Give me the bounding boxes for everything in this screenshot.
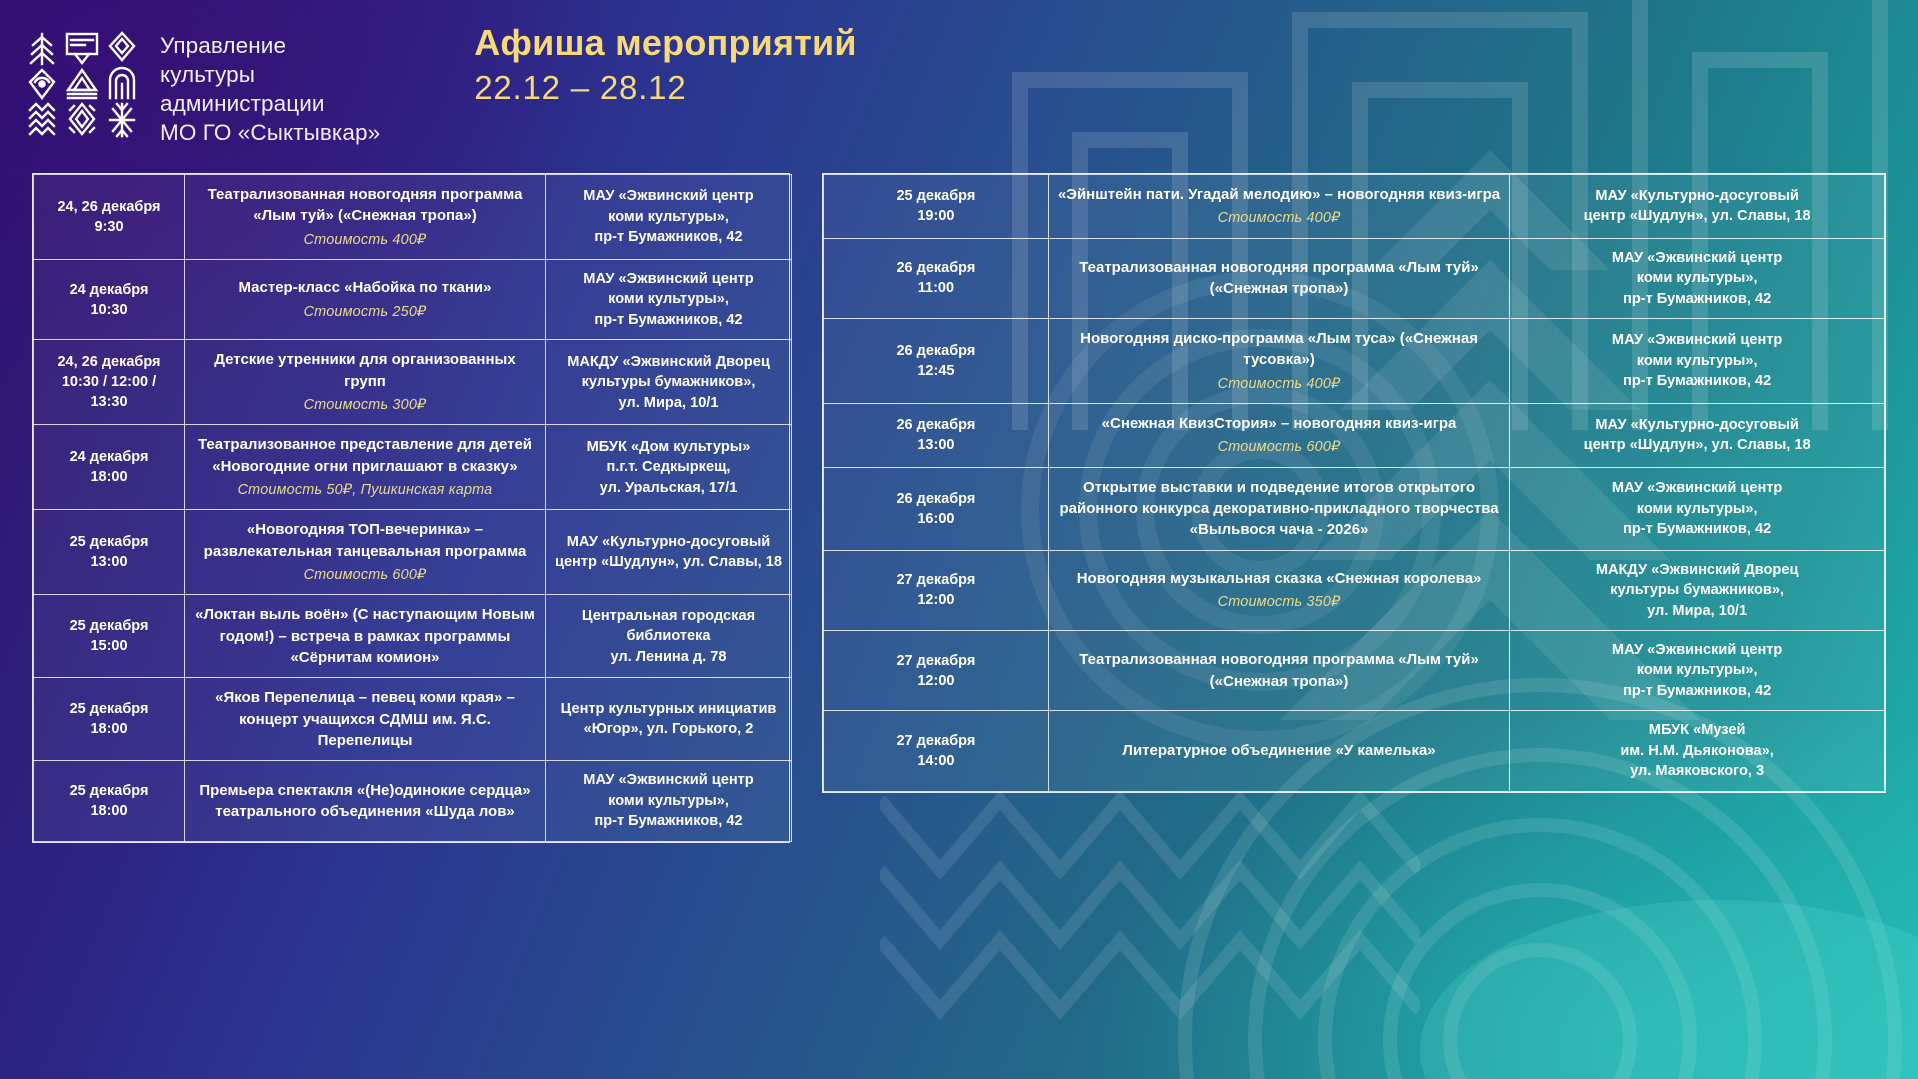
event-datetime-cell: 24, 26 декабря 9:30	[34, 175, 185, 260]
event-title-cell: Театрализованная новогодняя программа «Л…	[1048, 238, 1509, 318]
event-title: Театрализованное представление для детей…	[198, 436, 532, 474]
event-datetime-cell: 25 декабря 19:00	[824, 175, 1049, 239]
event-title-cell: «Новогодняя ТОП-вечеринка» – развлекател…	[185, 510, 546, 595]
organization-branding: Управление культуры администрации МО ГО …	[24, 24, 380, 148]
title-block: Афиша мероприятий 22.12 – 28.12	[474, 24, 856, 105]
table-row: 26 декабря 12:45Новогодняя диско-програм…	[824, 319, 1885, 404]
table-row: 25 декабря 19:00«Эйнштейн пати. Угадай м…	[824, 175, 1885, 239]
event-datetime-cell: 26 декабря 11:00	[824, 238, 1049, 318]
event-title: Новогодняя диско-программа «Лым туса» («…	[1080, 330, 1478, 368]
event-datetime-cell: 27 декабря 12:00	[824, 630, 1049, 710]
event-venue-cell: МАУ «Эжвинский центр коми культуры», пр-…	[546, 260, 792, 340]
event-title: «Новогодняя ТОП-вечеринка» – развлекател…	[204, 521, 527, 559]
event-title: Литературное объединение «У камелька»	[1122, 742, 1435, 759]
event-datetime-cell: 24 декабря 10:30	[34, 260, 185, 340]
event-title: Мастер-класс «Набойка по ткани»	[238, 279, 491, 296]
event-title-cell: Театрализованная новогодняя программа «Л…	[185, 175, 546, 260]
table-row: 26 декабря 13:00«Снежная КвизСтория» – н…	[824, 404, 1885, 468]
table-row: 25 декабря 13:00«Новогодняя ТОП-вечеринк…	[34, 510, 792, 595]
event-price: Стоимость 50₽, Пушкинская карта	[193, 480, 537, 500]
event-datetime-cell: 27 декабря 12:00	[824, 550, 1049, 630]
event-title: Новогодняя музыкальная сказка «Снежная к…	[1077, 570, 1482, 587]
event-datetime-cell: 26 декабря 16:00	[824, 467, 1049, 550]
event-venue-cell: Центр культурных инициатив «Югор», ул. Г…	[546, 678, 792, 761]
table-row: 26 декабря 16:00Открытие выставки и подв…	[824, 467, 1885, 550]
event-title: Театрализованная новогодняя программа «Л…	[208, 186, 523, 224]
event-title: «Локтан выль воён» (С наступающим Новым …	[195, 606, 535, 666]
table-row: 27 декабря 14:00Литературное объединение…	[824, 711, 1885, 791]
event-venue-cell: Центральная городская библиотека ул. Лен…	[546, 595, 792, 678]
event-datetime-cell: 27 декабря 14:00	[824, 711, 1049, 791]
event-title: Детские утренники для организованных гру…	[214, 351, 515, 389]
event-datetime-cell: 24 декабря 18:00	[34, 425, 185, 510]
event-venue-cell: МАУ «Культурно-досуговый центр «Шудлун»,…	[1510, 404, 1885, 468]
table-row: 27 декабря 12:00Театрализованная новогод…	[824, 630, 1885, 710]
event-venue-cell: МАУ «Эжвинский центр коми культуры», пр-…	[1510, 630, 1885, 710]
event-datetime-cell: 26 декабря 13:00	[824, 404, 1049, 468]
event-price: Стоимость 300₽	[193, 395, 537, 415]
event-title-cell: «Яков Перепелица – певец коми края» – ко…	[185, 678, 546, 761]
event-venue-cell: МАУ «Эжвинский центр коми культуры», пр-…	[1510, 319, 1885, 404]
event-title-cell: «Локтан выль воён» (С наступающим Новым …	[185, 595, 546, 678]
table-row: 26 декабря 11:00Театрализованная новогод…	[824, 238, 1885, 318]
event-title-cell: Мастер-класс «Набойка по ткани»Стоимость…	[185, 260, 546, 340]
event-title-cell: Театрализованная новогодняя программа «Л…	[1048, 630, 1509, 710]
page-title: Афиша мероприятий	[474, 24, 856, 62]
table-row: 25 декабря 18:00«Яков Перепелица – певец…	[34, 678, 792, 761]
event-title: «Эйнштейн пати. Угадай мелодию» – нового…	[1058, 186, 1500, 203]
event-datetime-cell: 25 декабря 18:00	[34, 761, 185, 841]
event-datetime-cell: 25 декабря 18:00	[34, 678, 185, 761]
event-venue-cell: МАУ «Эжвинский центр коми культуры», пр-…	[546, 761, 792, 841]
event-venue-cell: МБУК «Дом культуры» п.г.т. Седкыркещ, ул…	[546, 425, 792, 510]
event-title-cell: Детские утренники для организованных гру…	[185, 340, 546, 425]
table-row: 24, 26 декабря 9:30Театрализованная ново…	[34, 175, 792, 260]
table-row: 25 декабря 15:00«Локтан выль воён» (С на…	[34, 595, 792, 678]
event-price: Стоимость 400₽	[1057, 374, 1501, 394]
poster-header: Управление культуры администрации МО ГО …	[0, 0, 1918, 163]
event-title: Театрализованная новогодняя программа «Л…	[1079, 259, 1479, 297]
event-datetime-cell: 25 декабря 15:00	[34, 595, 185, 678]
event-price: Стоимость 600₽	[193, 565, 537, 585]
event-venue-cell: МАУ «Эжвинский центр коми культуры», пр-…	[1510, 238, 1885, 318]
table-row: 27 декабря 12:00Новогодняя музыкальная с…	[824, 550, 1885, 630]
date-range: 22.12 – 28.12	[474, 71, 856, 106]
event-price: Стоимость 400₽	[193, 230, 537, 250]
event-venue-cell: МАУ «Эжвинский центр коми культуры», пр-…	[1510, 467, 1885, 550]
event-title-cell: Новогодняя музыкальная сказка «Снежная к…	[1048, 550, 1509, 630]
table-row: 24, 26 декабря 10:30 / 12:00 / 13:30Детс…	[34, 340, 792, 425]
event-venue-cell: МАКДУ «Эжвинский Дворец культуры бумажни…	[1510, 550, 1885, 630]
event-price: Стоимость 250₽	[193, 302, 537, 322]
events-table: 25 декабря 19:00«Эйнштейн пати. Угадай м…	[823, 174, 1885, 792]
event-title-cell: «Снежная КвизСтория» – новогодняя квиз-и…	[1048, 404, 1509, 468]
event-title: «Яков Перепелица – певец коми края» – ко…	[215, 689, 515, 749]
event-venue-cell: МАУ «Эжвинский центр коми культуры», пр-…	[546, 175, 792, 260]
event-datetime-cell: 26 декабря 12:45	[824, 319, 1049, 404]
event-datetime-cell: 24, 26 декабря 10:30 / 12:00 / 13:30	[34, 340, 185, 425]
event-venue-cell: МАУ «Культурно-досуговый центр «Шудлун»,…	[1510, 175, 1885, 239]
event-venue-cell: МАКДУ «Эжвинский Дворец культуры бумажни…	[546, 340, 792, 425]
table-row: 24 декабря 18:00Театрализованное предста…	[34, 425, 792, 510]
schedule-table-left: 24, 26 декабря 9:30Театрализованная ново…	[32, 173, 790, 843]
event-title-cell: Театрализованное представление для детей…	[185, 425, 546, 510]
event-title-cell: Литературное объединение «У камелька»	[1048, 711, 1509, 791]
event-title-cell: Новогодняя диско-программа «Лым туса» («…	[1048, 319, 1509, 404]
table-row: 24 декабря 10:30Мастер-класс «Набойка по…	[34, 260, 792, 340]
komi-ornament-logo-icon	[24, 24, 140, 144]
event-title-cell: Премьера спектакля «(Не)одинокие сердца»…	[185, 761, 546, 841]
event-title: Премьера спектакля «(Не)одинокие сердца»…	[199, 782, 530, 820]
table-row: 25 декабря 18:00Премьера спектакля «(Не)…	[34, 761, 792, 841]
event-price: Стоимость 400₽	[1057, 208, 1501, 228]
event-title-cell: Открытие выставки и подведение итогов от…	[1048, 467, 1509, 550]
organization-name: Управление культуры администрации МО ГО …	[160, 32, 380, 148]
event-venue-cell: МБУК «Музей им. Н.М. Дьяконова», ул. Мая…	[1510, 711, 1885, 791]
event-title: Открытие выставки и подведение итогов от…	[1059, 479, 1498, 539]
schedule-table-right: 25 декабря 19:00«Эйнштейн пати. Угадай м…	[822, 173, 1886, 793]
event-price: Стоимость 350₽	[1057, 592, 1501, 612]
event-title: Театрализованная новогодняя программа «Л…	[1079, 651, 1479, 689]
event-price: Стоимость 600₽	[1057, 437, 1501, 457]
event-datetime-cell: 25 декабря 13:00	[34, 510, 185, 595]
event-title-cell: «Эйнштейн пати. Угадай мелодию» – нового…	[1048, 175, 1509, 239]
event-venue-cell: МАУ «Культурно-досуговый центр «Шудлун»,…	[546, 510, 792, 595]
events-table: 24, 26 декабря 9:30Театрализованная ново…	[33, 174, 792, 842]
event-title: «Снежная КвизСтория» – новогодняя квиз-и…	[1102, 415, 1457, 432]
